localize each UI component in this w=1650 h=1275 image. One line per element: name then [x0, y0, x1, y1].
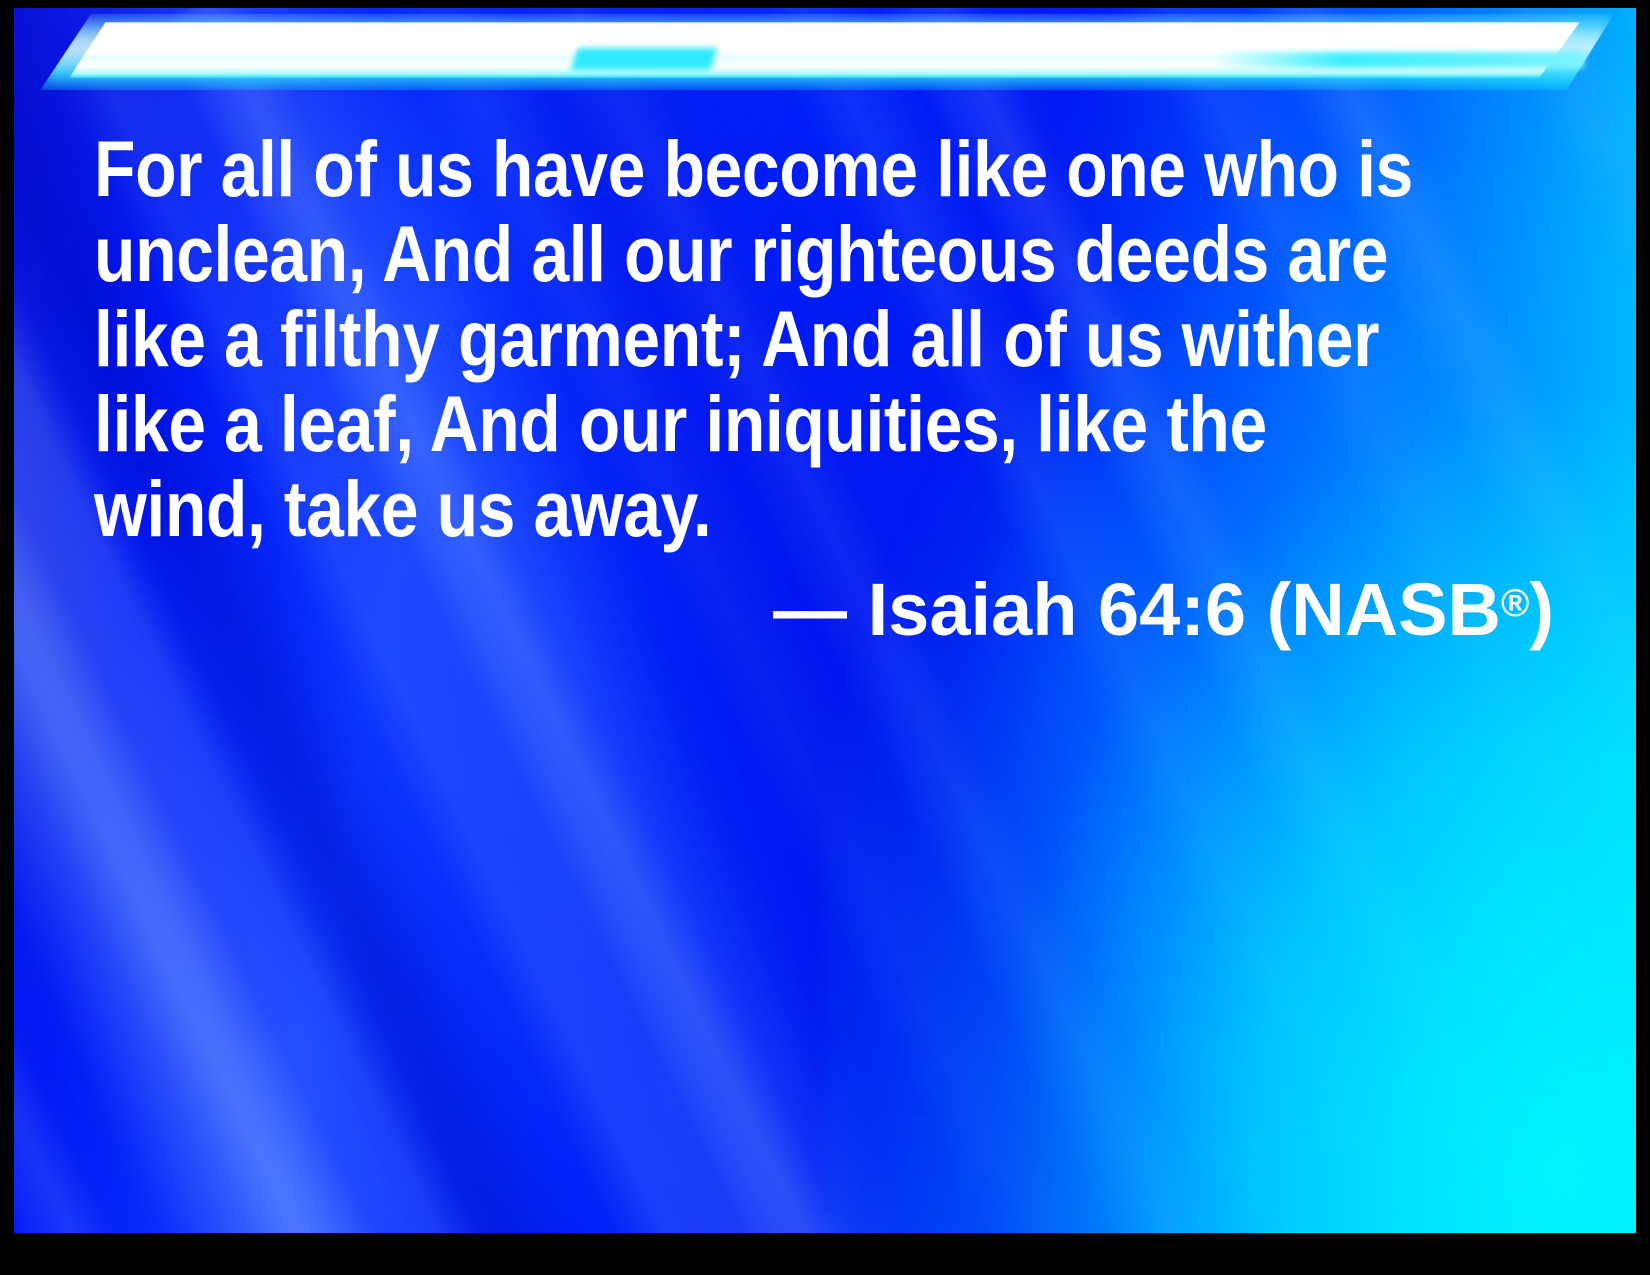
slide-canvas: For all of us have become like one who i…	[14, 8, 1636, 1233]
verse-line-2: unclean, And all our righteous deeds are	[94, 211, 1358, 296]
verse-line-3: like a filthy garment; And all of us wit…	[94, 296, 1358, 381]
verse-attribution: — Isaiah 64:6 (NASB®)	[94, 561, 1564, 653]
verse-line-4: like a leaf, And our iniquities, like th…	[94, 381, 1358, 466]
verse-slide: For all of us have become like one who i…	[0, 0, 1650, 1275]
attribution-book: Isaiah	[868, 568, 1078, 651]
attribution-chapter-verse: 64:6	[1098, 568, 1246, 651]
verse-text-block: For all of us have become like one who i…	[94, 126, 1564, 653]
verse-line-5: wind, take us away.	[94, 466, 1358, 551]
attribution-em-dash: —	[773, 568, 847, 651]
attribution-close-paren: )	[1529, 568, 1554, 651]
attribution-open-paren: (	[1267, 568, 1292, 651]
registered-trademark-icon: ®	[1501, 582, 1529, 625]
verse-line-1: For all of us have become like one who i…	[94, 126, 1358, 211]
attribution-translation: NASB	[1291, 568, 1501, 651]
